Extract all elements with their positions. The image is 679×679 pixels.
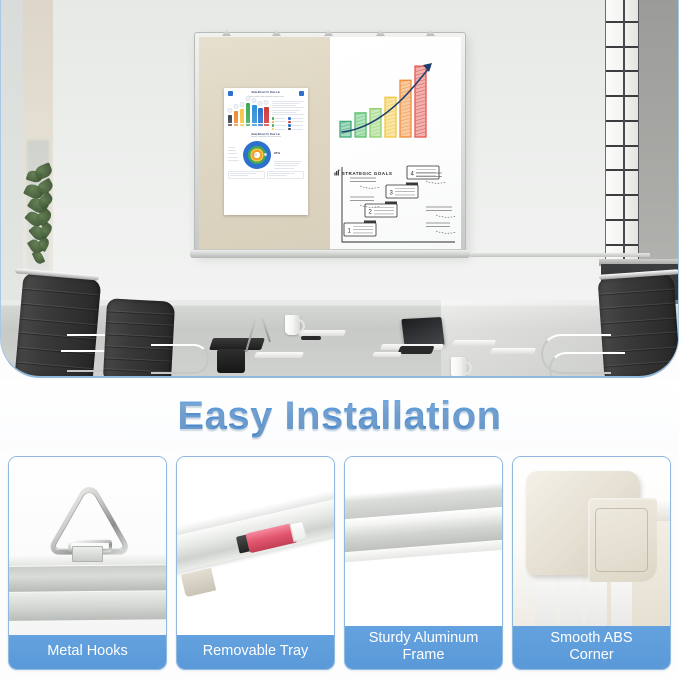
staircase-riser <box>364 221 376 224</box>
poster-text-line <box>272 112 296 113</box>
caption-line-1: Smooth ABS <box>515 630 668 647</box>
feature-panel-removable-tray[interactable]: Removable Tray <box>176 456 335 670</box>
poster-kpi-line <box>274 165 297 166</box>
shelf-divider <box>606 194 638 196</box>
poster-tick-labels <box>228 147 240 163</box>
feature-panel-row: Metal Hooks Removable Tray <box>8 456 671 670</box>
table-plate <box>490 348 536 354</box>
strategic-goals-label: STRATEGIC GOALS <box>342 171 393 176</box>
poster-bar-axis-labels <box>228 124 269 126</box>
product-feature-page: Data Driven To Flow Lte A data analytics… <box>0 0 679 679</box>
chair-armrest <box>151 344 209 374</box>
poster-text-line <box>272 114 304 115</box>
poster-kpi: 97% <box>274 141 304 169</box>
poster-legend-item <box>272 121 287 124</box>
poster-legend-item <box>272 117 287 120</box>
poster-stat-boxes <box>228 171 304 179</box>
poster-bars <box>228 101 269 123</box>
poster-text-line <box>272 105 296 106</box>
poster-bar <box>258 108 262 123</box>
chair-armrest <box>549 352 625 378</box>
whiteboard-pen-tray <box>190 250 470 258</box>
whiteboard-pen-tray-extension <box>470 253 650 257</box>
poster-bar <box>228 115 232 123</box>
shelf-mullion <box>623 0 625 268</box>
laptop-keyboard <box>397 346 434 354</box>
poster-bar-marker <box>240 102 245 107</box>
poster-kpi-line <box>274 163 300 164</box>
poster-bar-marker <box>228 108 233 113</box>
table-plate <box>372 352 402 357</box>
poster-paragraph-lines <box>272 101 304 115</box>
feature-panel-metal-hooks[interactable]: Metal Hooks <box>8 456 167 670</box>
poster-axis-tick <box>228 124 232 126</box>
poster-axis-tick <box>264 124 268 126</box>
plant-leaf <box>33 162 54 180</box>
poster-section2-subtitle: Progress completion ratio measurement <box>228 136 304 139</box>
pinned-infographic-poster: Data Driven To Flow Lte A data analytics… <box>224 88 308 215</box>
hero-office-photo: Data Driven To Flow Lte A data analytics… <box>0 0 679 378</box>
chair-rib <box>601 317 677 324</box>
poster-legend-item <box>288 128 303 131</box>
poster-text-line <box>272 110 300 111</box>
laptop-screen <box>401 317 444 347</box>
poster-bar-marker <box>246 96 251 101</box>
chair-rib <box>106 322 174 328</box>
poster-axis-tick <box>240 124 244 126</box>
section-title-band: Easy Installation <box>0 380 679 452</box>
poster-bar-marker <box>234 104 239 109</box>
chair-rib <box>105 333 173 339</box>
chair-rib <box>21 302 99 311</box>
poster-kpi-value: 97% <box>274 149 280 156</box>
poster-tick <box>228 153 237 154</box>
panel-caption-aluminum-frame: Sturdy Aluminum Frame <box>345 626 502 669</box>
poster-title: Data Driven To Flow Lte <box>252 92 280 94</box>
shelf-divider <box>606 95 638 97</box>
poster-text-line <box>272 103 300 104</box>
whiteboard-bar <box>385 97 396 137</box>
caption-line-1: Sturdy Aluminum <box>347 630 500 647</box>
poster-bar <box>246 103 250 123</box>
poster-text-line <box>272 107 304 108</box>
shelf-divider <box>606 244 638 246</box>
poster-donut-chart <box>243 141 271 169</box>
poster-tick <box>228 147 235 148</box>
coffee-mug-right <box>451 357 467 378</box>
shelf-divider <box>606 219 638 221</box>
shelf-divider <box>606 145 638 147</box>
poster-kpi-text <box>274 161 304 169</box>
chair-rib <box>599 288 675 295</box>
poster-axis-tick <box>258 124 262 126</box>
table-dark-accent <box>301 336 321 340</box>
whiteboard-drawing: 1234 <box>330 37 461 248</box>
wall-plant <box>25 165 65 270</box>
panel-caption-removable-tray: Removable Tray <box>177 635 334 669</box>
plant-leaf <box>32 250 46 266</box>
poster-lower-section: Data Driven To Flow Lte Progress complet… <box>228 134 304 179</box>
poster-legend-item <box>288 124 303 127</box>
diagram-connector <box>426 181 446 183</box>
poster-tick <box>228 160 239 161</box>
whiteboard: Data Driven To Flow Lte A data analytics… <box>194 32 466 254</box>
feature-panel-aluminum-frame[interactable]: Sturdy Aluminum Frame <box>344 456 503 670</box>
shelf-divider <box>606 169 638 171</box>
poster-legend-item <box>288 117 303 120</box>
poster-logo-left <box>228 91 233 96</box>
poster-axis-tick <box>252 124 256 126</box>
panel-caption-metal-hooks: Metal Hooks <box>9 635 166 669</box>
poster-text-column <box>272 101 304 131</box>
rail-mid-band <box>9 565 166 592</box>
poster-legend-item <box>272 124 287 127</box>
poster-bar-marker <box>264 100 269 105</box>
chair-rib <box>600 303 676 310</box>
poster-bar-marker <box>252 98 257 103</box>
dry-erase-half: 1234 STRATEGIC GOALS <box>330 37 461 249</box>
window-shelf-unit <box>605 0 639 268</box>
diagram-connector <box>360 186 380 188</box>
shelf-divider <box>606 46 638 48</box>
conference-mic-base <box>217 349 245 373</box>
poster-bar <box>264 107 268 123</box>
shelf-divider <box>606 21 638 23</box>
whiteboard-aluminum-frame: Data Driven To Flow Lte A data analytics… <box>194 32 466 254</box>
bar-chart-icon <box>334 169 341 176</box>
poster-bar-chart <box>228 101 269 131</box>
poster-upper-body <box>228 101 304 131</box>
poster-logo-right <box>299 91 304 96</box>
chair-rib <box>22 288 100 297</box>
caption-line-2: Frame <box>347 647 500 664</box>
poster-stat-box <box>228 171 265 179</box>
rail-lower-band <box>9 591 166 621</box>
staircase-riser <box>385 202 397 205</box>
poster-text-line <box>272 101 304 102</box>
poster-donut-row: 97% <box>228 141 304 169</box>
poster-tick <box>228 157 238 158</box>
chair-rib <box>106 310 174 316</box>
coffee-mug-left <box>285 315 300 335</box>
poster-tick <box>228 150 236 151</box>
abs-corner-image <box>513 457 670 626</box>
abs-corner-inner-edge <box>595 508 648 572</box>
cork-bulletin-half: Data Driven To Flow Lte A data analytics… <box>199 37 330 249</box>
poster-legend <box>272 117 304 130</box>
poster-kpi-line <box>274 161 302 162</box>
chair-rib <box>602 332 678 339</box>
removable-tray-image <box>177 457 334 635</box>
chair-rib <box>20 317 98 326</box>
wall-left-strip <box>1 0 23 300</box>
aluminum-frame-image <box>345 457 502 626</box>
poster-bar <box>252 105 256 123</box>
panel-caption-abs-corner: Smooth ABS Corner <box>513 626 670 669</box>
poster-bar <box>240 109 244 123</box>
poster-legend-item <box>272 128 287 131</box>
table-plate <box>452 340 496 346</box>
diagram-connector <box>436 215 456 217</box>
shelf-divider <box>606 70 638 72</box>
table-plate <box>254 352 304 358</box>
poster-stat-box <box>267 171 304 179</box>
poster-legend-item <box>288 121 303 124</box>
hook-mount-plate <box>72 546 103 562</box>
poster-axis-tick <box>234 124 238 126</box>
poster-bar <box>234 111 238 123</box>
poster-kpi-line <box>274 168 294 169</box>
caption-line-2: Corner <box>515 647 668 664</box>
metal-hook-image <box>9 457 166 635</box>
diagram-connector <box>436 231 456 233</box>
poster-bar-marker <box>258 101 263 106</box>
shelf-divider <box>606 120 638 122</box>
feature-panel-abs-corner[interactable]: Smooth ABS Corner <box>512 456 671 670</box>
poster-axis-tick <box>246 124 250 126</box>
page-title: Easy Installation <box>177 394 501 439</box>
poster-subtitle: A data analytics report summary overview… <box>228 96 304 99</box>
staircase-riser <box>406 183 418 186</box>
whiteboard-surface: Data Driven To Flow Lte A data analytics… <box>199 37 461 249</box>
